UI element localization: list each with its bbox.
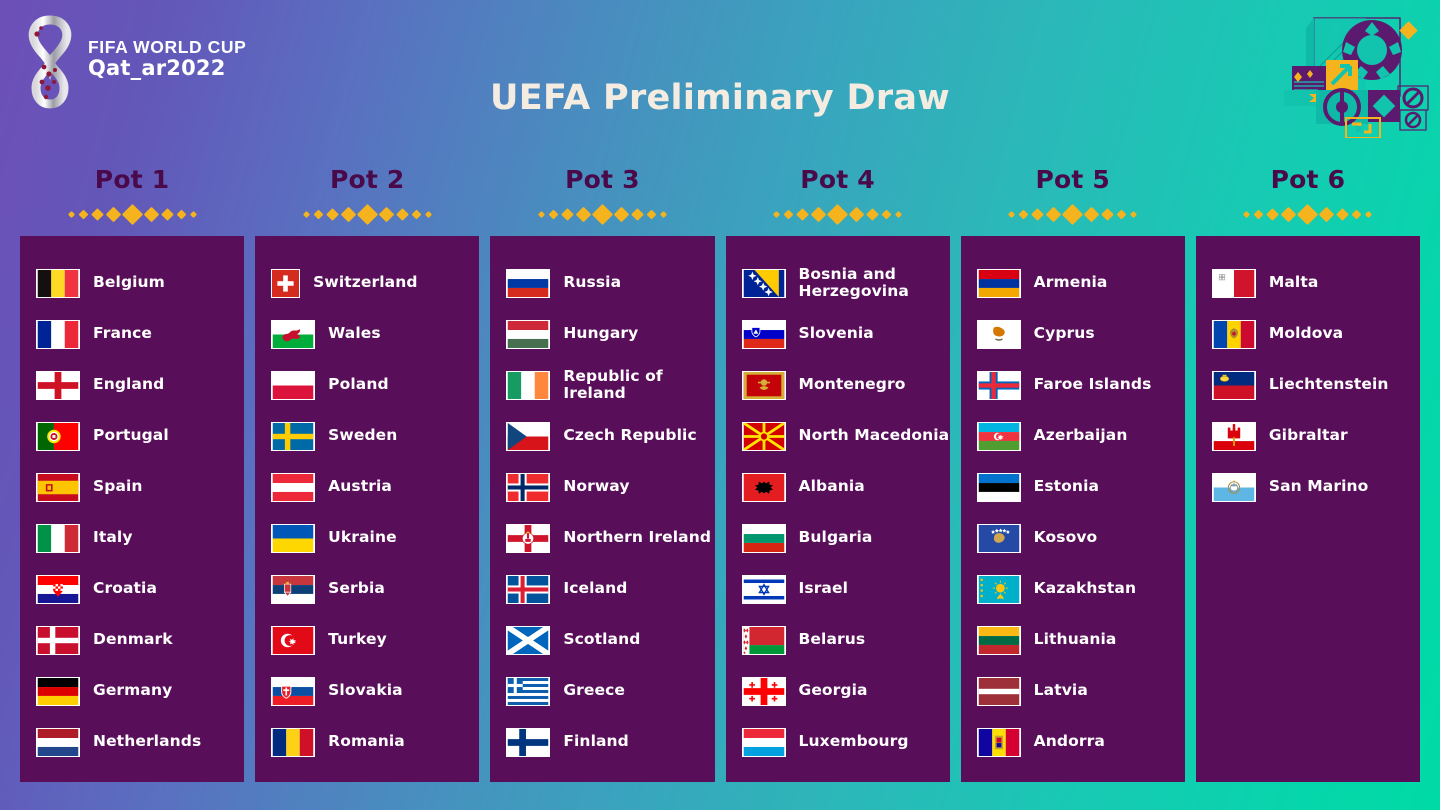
flag-az-icon	[977, 422, 1021, 451]
team-row[interactable]: Bosnia and Herzegovina	[726, 258, 950, 309]
team-name: Scotland	[563, 631, 640, 648]
team-name: North Macedonia	[799, 427, 950, 444]
team-row[interactable]: Liechtenstein	[1196, 360, 1420, 411]
team-row[interactable]: Malta	[1196, 258, 1420, 309]
pot-panel-5: ArmeniaCyprusFaroe IslandsAzerbaijanEsto…	[961, 236, 1185, 782]
team-row[interactable]: Netherlands	[20, 717, 244, 768]
team-row[interactable]: Romania	[255, 717, 479, 768]
team-name: Wales	[328, 325, 381, 342]
team-name: Belarus	[799, 631, 866, 648]
flag-pt-icon	[36, 422, 80, 451]
flag-ni-icon	[506, 524, 550, 553]
flag-sk-icon	[271, 677, 315, 706]
flag-si-icon	[742, 320, 786, 349]
diamond-dot-3	[91, 208, 104, 221]
team-row[interactable]: Hungary	[490, 309, 714, 360]
pot-column-4: Pot 4Bosnia and HerzegovinaSloveniaMonte…	[726, 166, 950, 782]
diamond-dot-3	[326, 208, 339, 221]
pot-header-2: Pot 2	[255, 166, 479, 228]
team-row[interactable]: Finland	[490, 717, 714, 768]
diamond-dot-2	[1254, 210, 1264, 220]
team-row[interactable]: Lithuania	[961, 615, 1185, 666]
team-row[interactable]: Georgia	[726, 666, 950, 717]
diamond-dot-8	[882, 210, 892, 220]
pot-column-6: Pot 6MaltaMoldovaLiechtensteinGibraltarS…	[1196, 166, 1420, 782]
logo-fifa-world-cup-text: FIFA WORLD CUP	[88, 38, 246, 57]
team-name: Ukraine	[328, 529, 397, 546]
team-name: Croatia	[93, 580, 157, 597]
flag-am-icon	[977, 269, 1021, 298]
diamond-dot-3	[796, 208, 809, 221]
team-row[interactable]: Czech Republic	[490, 411, 714, 462]
pot-header-1: Pot 1	[20, 166, 244, 228]
flag-mt-icon	[1212, 269, 1256, 298]
team-name: Kazakhstan	[1034, 580, 1136, 597]
team-row[interactable]: Turkey	[255, 615, 479, 666]
diamond-dot-7	[866, 208, 879, 221]
team-row[interactable]: Latvia	[961, 666, 1185, 717]
pot-header-3: Pot 3	[490, 166, 714, 228]
diamond-dot-5	[1062, 204, 1083, 225]
pot-divider-diamonds	[20, 202, 244, 228]
team-name: Spain	[93, 478, 143, 495]
team-name: Luxembourg	[799, 733, 909, 750]
diamond-dot-9	[1365, 211, 1372, 218]
team-name: Belgium	[93, 274, 165, 291]
flag-lv-icon	[977, 677, 1021, 706]
diamond-dot-7	[631, 208, 644, 221]
team-row[interactable]: Cyprus	[961, 309, 1185, 360]
diamond-dot-5	[357, 204, 378, 225]
team-row[interactable]: Greece	[490, 666, 714, 717]
pot-panel-2: SwitzerlandWalesPolandSwedenAustriaUkrai…	[255, 236, 479, 782]
team-name: Greece	[563, 682, 625, 699]
pot-title: Pot 6	[1196, 166, 1420, 194]
qatar-2022-geometric-pattern-icon	[1280, 6, 1430, 138]
team-row[interactable]: San Marino	[1196, 462, 1420, 513]
team-name: Czech Republic	[563, 427, 696, 444]
diamond-dot-3	[561, 208, 574, 221]
flag-dk-icon	[36, 626, 80, 655]
flag-gr-icon	[506, 677, 550, 706]
flag-lu-icon	[742, 728, 786, 757]
pot-column-5: Pot 5ArmeniaCyprusFaroe IslandsAzerbaija…	[961, 166, 1185, 782]
team-name: Armenia	[1034, 274, 1108, 291]
flag-ie-icon	[506, 371, 550, 400]
flag-be-icon	[36, 269, 80, 298]
flag-lt-icon	[977, 626, 1021, 655]
diamond-dot-7	[1337, 208, 1350, 221]
diamond-dot-7	[1101, 208, 1114, 221]
team-name: Kosovo	[1034, 529, 1098, 546]
flag-fo-icon	[977, 371, 1021, 400]
team-row[interactable]: Kosovo	[961, 513, 1185, 564]
diamond-dot-5	[121, 204, 142, 225]
diamond-dot-3	[1031, 208, 1044, 221]
team-row[interactable]: Norway	[490, 462, 714, 513]
flag-kz-icon	[977, 575, 1021, 604]
team-name: Northern Ireland	[563, 529, 711, 546]
team-name: Italy	[93, 529, 133, 546]
diamond-dot-4	[1046, 207, 1062, 223]
team-name: Poland	[328, 376, 389, 393]
team-row[interactable]: Slovenia	[726, 309, 950, 360]
team-name: Denmark	[93, 631, 173, 648]
flag-rs-icon	[271, 575, 315, 604]
team-name: Finland	[563, 733, 629, 750]
team-name: San Marino	[1269, 478, 1369, 495]
team-row[interactable]: Belarus	[726, 615, 950, 666]
pot-panel-1: BelgiumFranceEnglandPortugalSpainItalyCr…	[20, 236, 244, 782]
team-name: Slovakia	[328, 682, 403, 699]
team-name: Austria	[328, 478, 392, 495]
pot-header-4: Pot 4	[726, 166, 950, 228]
pots-grid: Pot 1BelgiumFranceEnglandPortugalSpainIt…	[20, 166, 1420, 776]
pot-title: Pot 1	[20, 166, 244, 194]
diamond-dot-1	[538, 211, 545, 218]
team-row[interactable]: Portugal	[20, 411, 244, 462]
team-name: Azerbaijan	[1034, 427, 1128, 444]
team-name: Malta	[1269, 274, 1319, 291]
pot-header-6: Pot 6	[1196, 166, 1420, 228]
pot-column-2: Pot 2SwitzerlandWalesPolandSwedenAustria…	[255, 166, 479, 782]
team-name: Bulgaria	[799, 529, 873, 546]
diamond-dot-6	[849, 207, 865, 223]
flag-ge-icon	[742, 677, 786, 706]
team-name: Estonia	[1034, 478, 1099, 495]
team-name: Sweden	[328, 427, 397, 444]
diamond-dot-8	[1352, 210, 1362, 220]
team-row[interactable]: Northern Ireland	[490, 513, 714, 564]
team-name: Israel	[799, 580, 849, 597]
diamond-dot-6	[378, 207, 394, 223]
flag-ba-icon	[742, 269, 786, 298]
team-row[interactable]: Luxembourg	[726, 717, 950, 768]
pot-divider-diamonds	[255, 202, 479, 228]
diamond-dot-5	[592, 204, 613, 225]
diamond-dot-9	[190, 211, 197, 218]
team-name: Republic of Ireland	[563, 368, 714, 403]
flag-mk-icon	[742, 422, 786, 451]
team-row[interactable]: Israel	[726, 564, 950, 615]
team-name: Turkey	[328, 631, 387, 648]
flag-ru-icon	[506, 269, 550, 298]
flag-fi-icon	[506, 728, 550, 757]
diamond-dot-4	[105, 207, 121, 223]
team-row[interactable]: Montenegro	[726, 360, 950, 411]
team-row[interactable]: Gibraltar	[1196, 411, 1420, 462]
diamond-dot-2	[1019, 210, 1029, 220]
team-row[interactable]: Spain	[20, 462, 244, 513]
flag-bg-icon	[742, 524, 786, 553]
pot-panel-3: RussiaHungaryRepublic of IrelandCzech Re…	[490, 236, 714, 782]
team-row[interactable]: Denmark	[20, 615, 244, 666]
team-name: Cyprus	[1034, 325, 1095, 342]
flag-wa-icon	[271, 320, 315, 349]
diamond-dot-1	[773, 211, 780, 218]
team-name: France	[93, 325, 152, 342]
team-row[interactable]: Scotland	[490, 615, 714, 666]
flag-sm-icon	[1212, 473, 1256, 502]
flag-is-icon	[506, 575, 550, 604]
team-name: Moldova	[1269, 325, 1343, 342]
team-name: England	[93, 376, 164, 393]
team-row[interactable]: Poland	[255, 360, 479, 411]
diamond-dot-2	[78, 210, 88, 220]
flag-xk-icon	[977, 524, 1021, 553]
flag-by-icon	[742, 626, 786, 655]
team-name: Andorra	[1034, 733, 1105, 750]
flag-md-icon	[1212, 320, 1256, 349]
pot-divider-diamonds	[726, 202, 950, 228]
team-name: Albania	[799, 478, 865, 495]
team-name: Faroe Islands	[1034, 376, 1152, 393]
pot-title: Pot 2	[255, 166, 479, 194]
team-row[interactable]: Bulgaria	[726, 513, 950, 564]
team-name: Latvia	[1034, 682, 1088, 699]
team-name: Switzerland	[313, 274, 417, 291]
pot-column-1: Pot 1BelgiumFranceEnglandPortugalSpainIt…	[20, 166, 244, 782]
diamond-dot-9	[1130, 211, 1137, 218]
diamond-dot-7	[396, 208, 409, 221]
flag-cy-icon	[977, 320, 1021, 349]
pot-panel-4: Bosnia and HerzegovinaSloveniaMontenegro…	[726, 236, 950, 782]
team-row[interactable]: Ukraine	[255, 513, 479, 564]
pot-divider-diamonds	[961, 202, 1185, 228]
team-name: Netherlands	[93, 733, 201, 750]
team-row[interactable]: North Macedonia	[726, 411, 950, 462]
flag-no-icon	[506, 473, 550, 502]
team-row[interactable]: Germany	[20, 666, 244, 717]
flag-ee-icon	[977, 473, 1021, 502]
pot-panel-6: MaltaMoldovaLiechtensteinGibraltarSan Ma…	[1196, 236, 1420, 782]
flag-sc-icon	[506, 626, 550, 655]
flag-il-icon	[742, 575, 786, 604]
flag-ro-icon	[271, 728, 315, 757]
flag-ad-icon	[977, 728, 1021, 757]
team-row[interactable]: Italy	[20, 513, 244, 564]
flag-at-icon	[271, 473, 315, 502]
pot-divider-diamonds	[490, 202, 714, 228]
pot-column-3: Pot 3RussiaHungaryRepublic of IrelandCze…	[490, 166, 714, 782]
flag-cz-icon	[506, 422, 550, 451]
flag-ua-icon	[271, 524, 315, 553]
diamond-dot-8	[176, 210, 186, 220]
diamond-dot-1	[68, 211, 75, 218]
flag-me-icon	[742, 371, 786, 400]
diamond-dot-8	[646, 210, 656, 220]
team-row[interactable]: Albania	[726, 462, 950, 513]
flag-ch-icon	[271, 269, 300, 298]
flag-en-icon	[36, 371, 80, 400]
team-row[interactable]: Russia	[490, 258, 714, 309]
flag-tr-icon	[271, 626, 315, 655]
team-row[interactable]: Austria	[255, 462, 479, 513]
flag-hr-icon	[36, 575, 80, 604]
team-row[interactable]: Iceland	[490, 564, 714, 615]
flag-pl-icon	[271, 371, 315, 400]
team-row[interactable]: Switzerland	[255, 258, 479, 309]
flag-gi-icon	[1212, 422, 1256, 451]
diamond-dot-1	[303, 211, 310, 218]
flag-fr-icon	[36, 320, 80, 349]
flag-hu-icon	[506, 320, 550, 349]
diamond-dot-9	[425, 211, 432, 218]
flag-de-icon	[36, 677, 80, 706]
team-name: Montenegro	[799, 376, 906, 393]
team-name: Norway	[563, 478, 629, 495]
team-name: Lithuania	[1034, 631, 1117, 648]
team-row[interactable]: Azerbaijan	[961, 411, 1185, 462]
team-row[interactable]: Croatia	[20, 564, 244, 615]
diamond-dot-4	[576, 207, 592, 223]
pot-title: Pot 5	[961, 166, 1185, 194]
pot-title: Pot 3	[490, 166, 714, 194]
diamond-dot-1	[1008, 211, 1015, 218]
flag-it-icon	[36, 524, 80, 553]
diamond-dot-7	[161, 208, 174, 221]
diamond-dot-6	[1084, 207, 1100, 223]
flag-al-icon	[742, 473, 786, 502]
team-row[interactable]: Estonia	[961, 462, 1185, 513]
team-name: Iceland	[563, 580, 627, 597]
team-row[interactable]: Armenia	[961, 258, 1185, 309]
flag-li-icon	[1212, 371, 1256, 400]
team-name: Bosnia and Herzegovina	[799, 266, 950, 301]
diamond-dot-4	[340, 207, 356, 223]
diamond-dot-6	[614, 207, 630, 223]
diamond-dot-9	[660, 211, 667, 218]
team-name: Gibraltar	[1269, 427, 1348, 444]
diamond-dot-2	[784, 210, 794, 220]
team-row[interactable]: Kazakhstan	[961, 564, 1185, 615]
team-name: Romania	[328, 733, 405, 750]
team-row[interactable]: Slovakia	[255, 666, 479, 717]
pot-title: Pot 4	[726, 166, 950, 194]
flag-nl-icon	[36, 728, 80, 757]
diamond-dot-6	[143, 207, 159, 223]
diamond-dot-2	[548, 210, 558, 220]
team-name: Liechtenstein	[1269, 376, 1389, 393]
team-row[interactable]: Wales	[255, 309, 479, 360]
team-name: Russia	[563, 274, 621, 291]
team-row[interactable]: Faroe Islands	[961, 360, 1185, 411]
diamond-dot-5	[827, 204, 848, 225]
page-title: UEFA Preliminary Draw	[0, 78, 1440, 118]
pot-divider-diamonds	[1196, 202, 1420, 228]
diamond-dot-5	[1297, 204, 1318, 225]
team-name: Georgia	[799, 682, 868, 699]
team-row[interactable]: Sweden	[255, 411, 479, 462]
team-row[interactable]: Belgium	[20, 258, 244, 309]
team-row[interactable]: Republic of Ireland	[490, 360, 714, 411]
diamond-dot-4	[1281, 207, 1297, 223]
team-row[interactable]: France	[20, 309, 244, 360]
team-name: Serbia	[328, 580, 385, 597]
pot-header-5: Pot 5	[961, 166, 1185, 228]
flag-se-icon	[271, 422, 315, 451]
logo-qatar-2022-text: Qat_ar2022	[88, 57, 246, 81]
flag-es-icon	[36, 473, 80, 502]
team-row[interactable]: Moldova	[1196, 309, 1420, 360]
team-row[interactable]: Serbia	[255, 564, 479, 615]
team-name: Portugal	[93, 427, 169, 444]
team-name: Slovenia	[799, 325, 874, 342]
team-row[interactable]: Andorra	[961, 717, 1185, 768]
diamond-dot-6	[1319, 207, 1335, 223]
diamond-dot-1	[1243, 211, 1250, 218]
team-name: Hungary	[563, 325, 638, 342]
diamond-dot-4	[811, 207, 827, 223]
diamond-dot-3	[1267, 208, 1280, 221]
diamond-dot-2	[313, 210, 323, 220]
team-row[interactable]: England	[20, 360, 244, 411]
diamond-dot-9	[895, 211, 902, 218]
diamond-dot-8	[1117, 210, 1127, 220]
diamond-dot-8	[411, 210, 421, 220]
team-name: Germany	[93, 682, 172, 699]
